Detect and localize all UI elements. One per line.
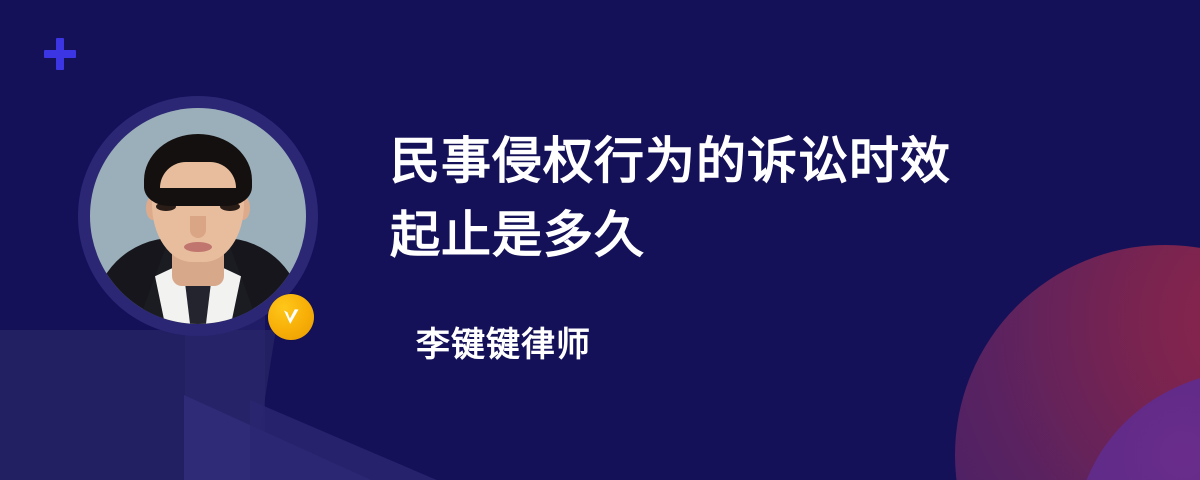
plus-icon-bar-vertical (56, 38, 64, 70)
verified-check-icon (268, 294, 314, 340)
page-title: 民事侵权行为的诉讼时效 起止是多久 (390, 124, 1090, 272)
portrait-mouth (184, 242, 212, 252)
avatar[interactable] (78, 96, 318, 336)
avatar-photo (90, 108, 306, 324)
portrait-nose (190, 216, 206, 238)
lawyer-name-label: 李键键律师 (416, 317, 591, 366)
background-triangle-two (250, 400, 460, 480)
lawyer-name-badge[interactable]: 李键键律师 (383, 296, 713, 386)
portrait-hair (144, 134, 252, 206)
lawyer-qa-banner: 民事侵权行为的诉讼时效 起止是多久 李键键律师 (0, 0, 1200, 480)
plus-icon (42, 36, 78, 72)
